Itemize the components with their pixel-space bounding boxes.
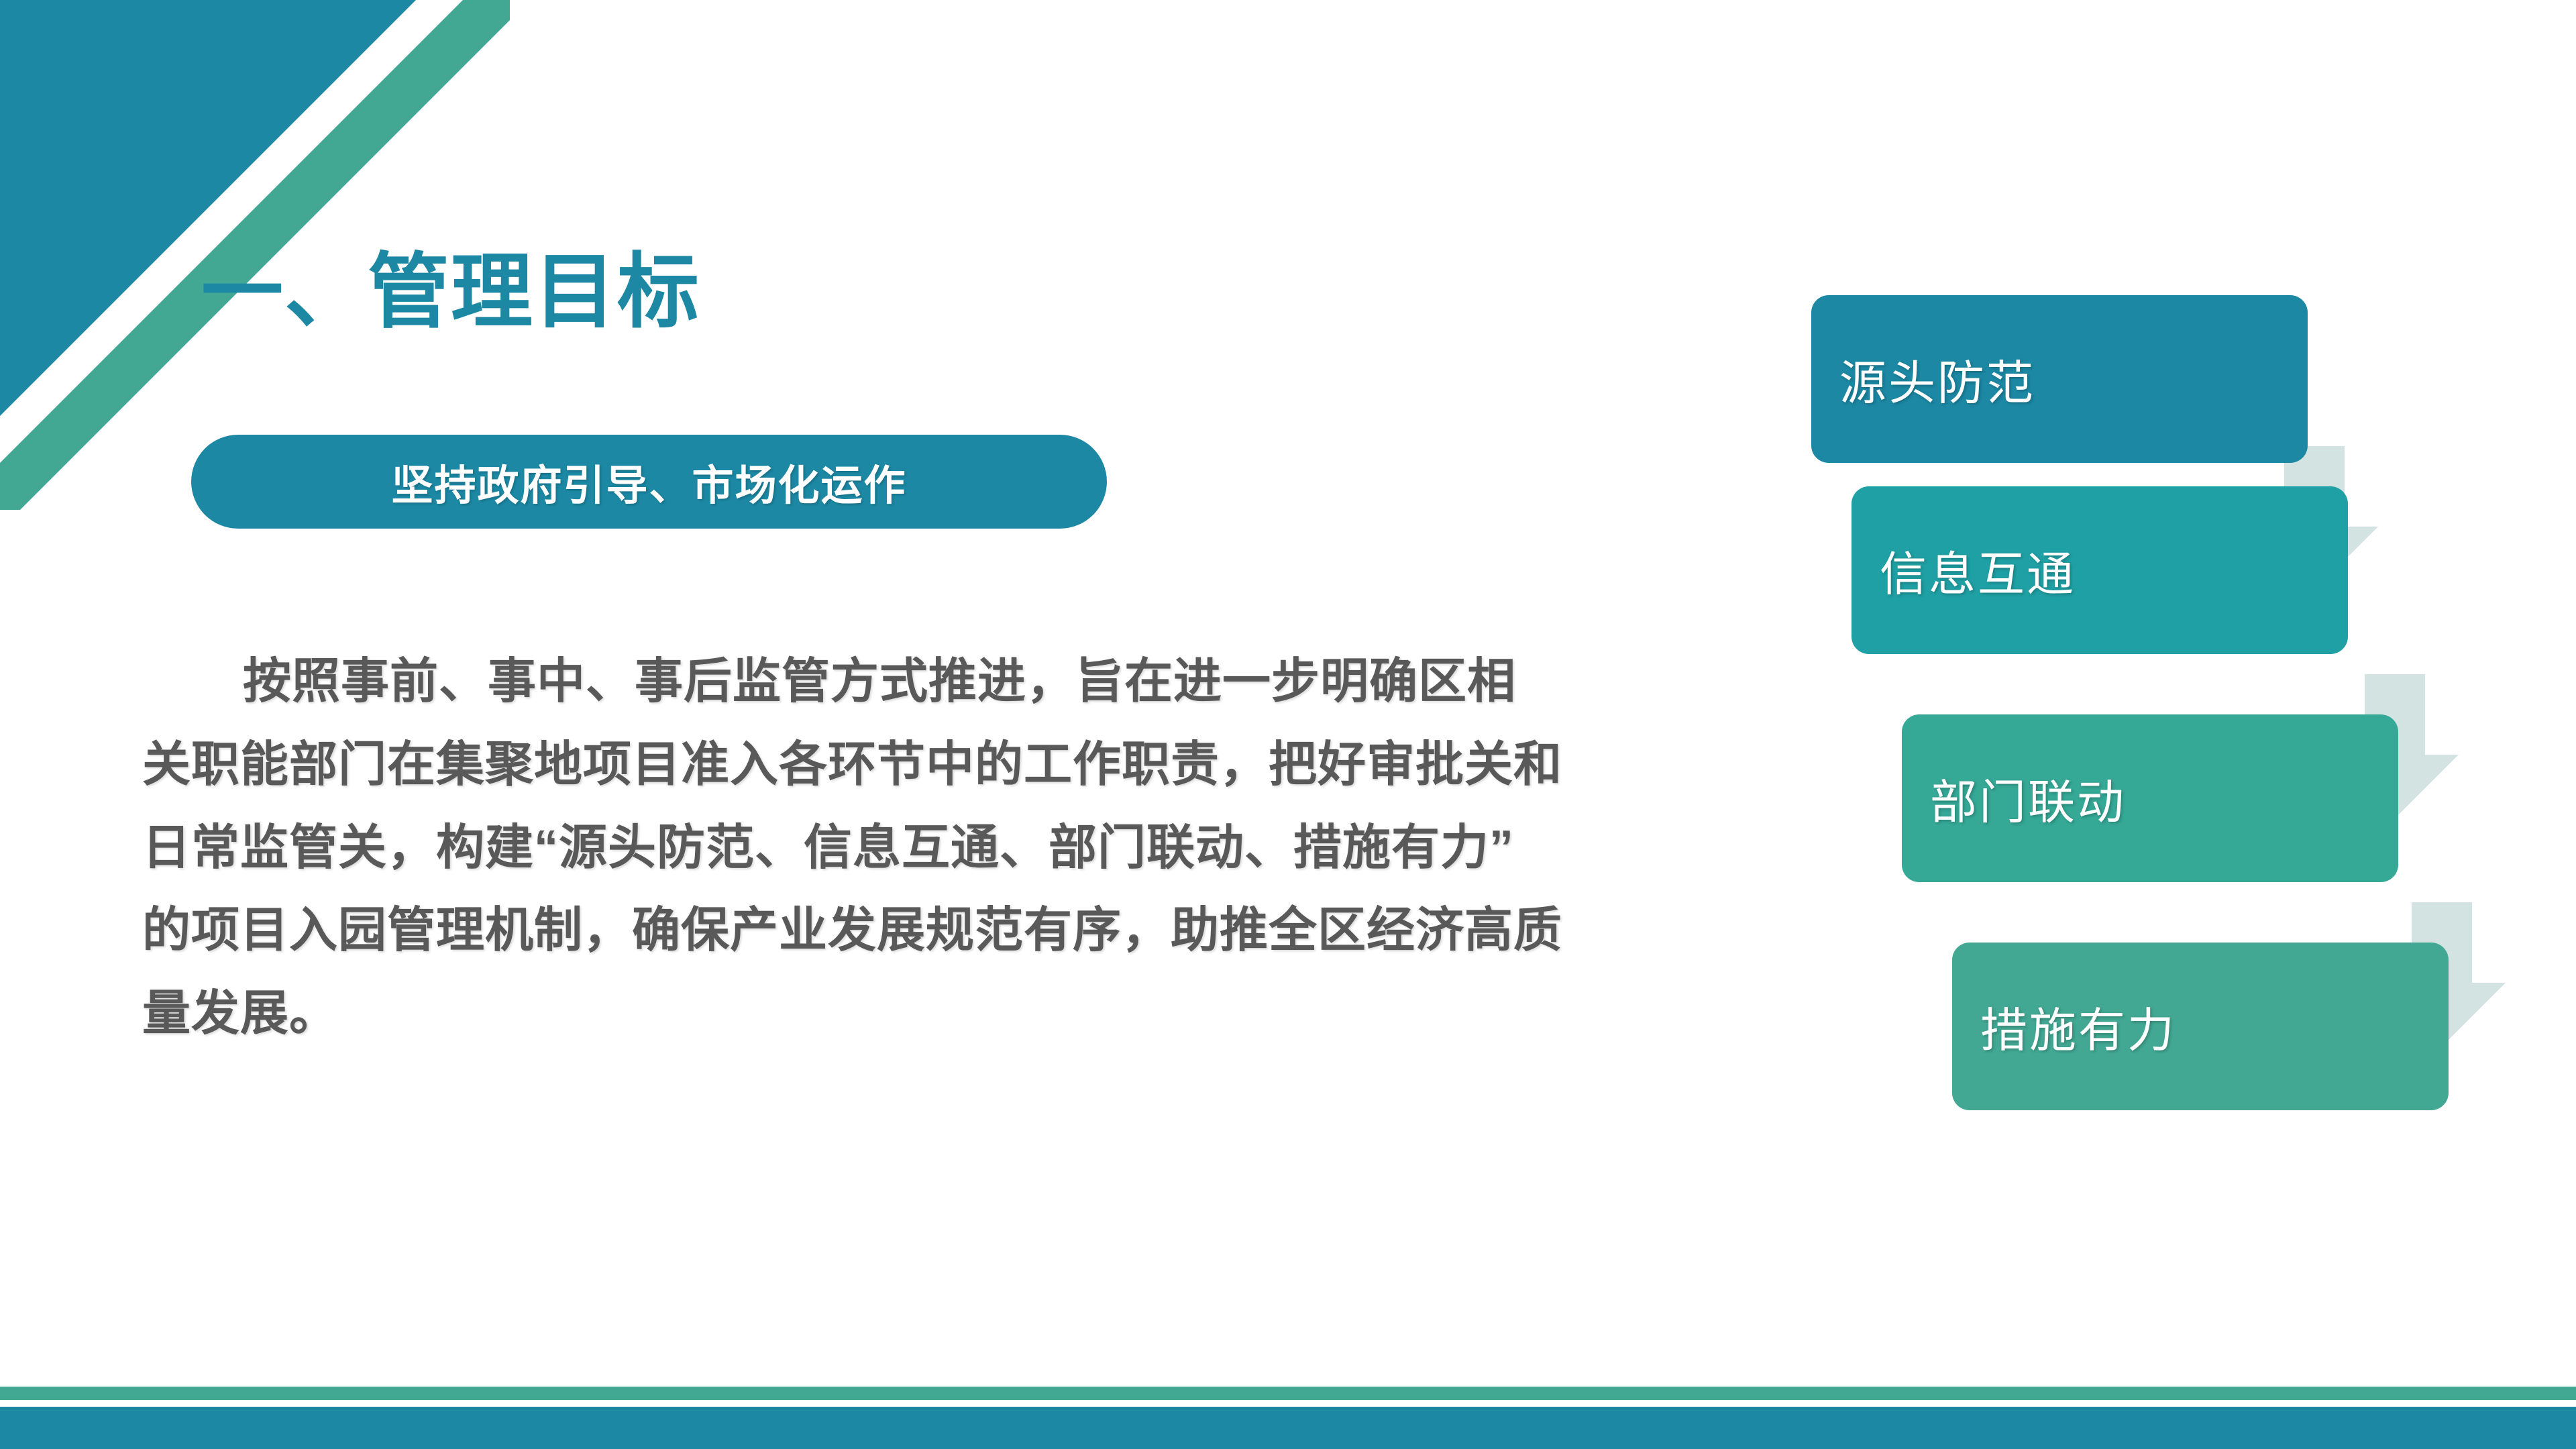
flow-step-4[interactable]: 措施有力 [1952,943,2449,1110]
status-badge-label: 坚持政府引导、市场化运作 [391,451,906,512]
flow-step-3-label: 部门联动 [1930,765,2126,833]
flow-step-4-label: 措施有力 [1980,993,2176,1061]
flow-step-3[interactable]: 部门联动 [1902,714,2398,882]
body-paragraph: 按照事前、事中、事后监管方式推进，旨在进一步明确区相 关职能部门在集聚地项目准入… [142,641,1766,1056]
flow-step-1[interactable]: 源头防范 [1811,295,2308,463]
corner-triangle-teal [0,0,416,416]
footer-green-stripe [0,1387,2576,1400]
process-flowchart: 源头防范 信息互通 部门联动 措施有力 [1811,295,2522,1181]
flow-step-1-label: 源头防范 [1839,345,2035,413]
body-line: 量发展。 [142,973,1766,1056]
slide-canvas: 一、管理目标 坚持政府引导、市场化运作 按照事前、事中、事后监管方式推进，旨在进… [0,0,2576,1449]
body-line: 日常监管关，构建“源头防范、信息互通、部门联动、措施有力” [142,807,1766,890]
page-title: 一、管理目标 [201,248,700,338]
status-badge: 坚持政府引导、市场化运作 [191,435,1107,529]
body-line: 关职能部门在集聚地项目准入各环节中的工作职责，把好审批关和 [142,724,1766,807]
body-line: 的项目入园管理机制，确保产业发展规范有序，助推全区经济高质 [142,890,1766,973]
footer-teal-bar [0,1407,2576,1449]
body-line: 按照事前、事中、事后监管方式推进，旨在进一步明确区相 [142,641,1766,724]
flow-step-2[interactable]: 信息互通 [1851,486,2348,654]
flow-step-2-label: 信息互通 [1880,537,2076,604]
